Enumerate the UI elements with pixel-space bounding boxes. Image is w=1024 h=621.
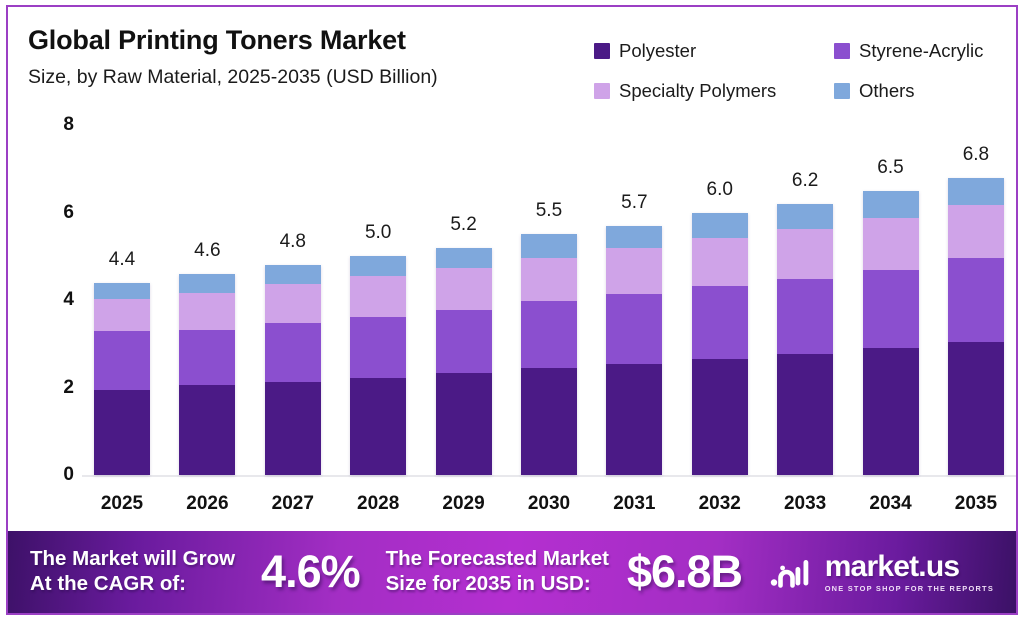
bar-column[interactable]: 5.2	[436, 125, 492, 475]
bar-segment[interactable]	[350, 317, 406, 378]
infographic-root: Global Printing Toners Market Size, by R…	[0, 0, 1024, 621]
bar-segment[interactable]	[94, 283, 150, 299]
bar-segment[interactable]	[606, 226, 662, 249]
x-tick-label: 2034	[863, 493, 919, 515]
bar-segment[interactable]	[777, 279, 833, 354]
legend-swatch-icon-specialty-polymers	[594, 83, 610, 99]
bar-segment[interactable]	[179, 330, 235, 386]
x-tick-label: 2029	[436, 493, 492, 515]
bar-segment[interactable]	[179, 274, 235, 293]
bar-total-label: 5.2	[450, 214, 476, 236]
cagr-label: The Market will Grow At the CAGR of:	[30, 547, 235, 596]
bar-total-label: 5.0	[365, 222, 391, 244]
bar-segment[interactable]	[265, 323, 321, 382]
bar-column[interactable]: 5.0	[350, 125, 406, 475]
y-tick-label: 8	[40, 114, 74, 136]
bar-segment[interactable]	[265, 265, 321, 284]
forecast-label-line1: The Forecasted Market	[386, 547, 609, 570]
x-axis-baseline	[82, 475, 1016, 477]
bar-total-label: 6.2	[792, 170, 818, 192]
forecast-label-line2: Size for 2035 in USD:	[386, 572, 609, 597]
bar-stack[interactable]	[94, 283, 150, 476]
bar-segment[interactable]	[94, 390, 150, 475]
bar-segment[interactable]	[948, 178, 1004, 206]
bar-segment[interactable]	[436, 248, 492, 268]
bar-stack[interactable]	[863, 191, 919, 475]
bar-segment[interactable]	[948, 258, 1004, 341]
bar-stack[interactable]	[350, 256, 406, 475]
brand-logo[interactable]: market.us ONE STOP SHOP FOR THE REPORTS	[769, 552, 994, 592]
x-tick-label: 2028	[350, 493, 406, 515]
bar-segment[interactable]	[265, 284, 321, 323]
title-block: Global Printing Toners Market Size, by R…	[28, 25, 438, 89]
market-us-logo-icon	[769, 555, 815, 589]
bar-stack[interactable]	[265, 265, 321, 475]
legend-item-specialty-polymers[interactable]: Specialty Polymers	[594, 80, 834, 102]
legend-label-specialty-polymers: Specialty Polymers	[619, 80, 776, 102]
bar-segment[interactable]	[350, 378, 406, 475]
bar-segment[interactable]	[521, 301, 577, 368]
bar-total-label: 4.8	[280, 231, 306, 253]
page-subtitle: Size, by Raw Material, 2025-2035 (USD Bi…	[28, 66, 438, 89]
forecast-block: The Forecasted Market Size for 2035 in U…	[386, 547, 609, 596]
bar-segment[interactable]	[948, 342, 1004, 475]
bar-column[interactable]: 5.7	[606, 125, 662, 475]
bar-column[interactable]: 6.2	[777, 125, 833, 475]
bar-segment[interactable]	[179, 293, 235, 330]
bar-segment[interactable]	[179, 385, 235, 475]
y-tick-label: 0	[40, 464, 74, 486]
bar-segment[interactable]	[436, 268, 492, 310]
chart-plot: 02468 4.44.64.85.05.25.55.76.06.26.56.8 …	[8, 117, 1016, 531]
bar-stack[interactable]	[692, 213, 748, 476]
legend-item-others[interactable]: Others	[834, 80, 1014, 102]
legend-label-polyester: Polyester	[619, 40, 696, 62]
legend-swatch-icon-polyester	[594, 43, 610, 59]
legend-item-styrene-acrylic[interactable]: Styrene-Acrylic	[834, 40, 1014, 62]
bar-segment[interactable]	[606, 364, 662, 475]
infographic-frame: Global Printing Toners Market Size, by R…	[6, 5, 1018, 615]
bar-total-label: 6.8	[963, 144, 989, 166]
bar-segment[interactable]	[521, 368, 577, 475]
bar-segment[interactable]	[521, 234, 577, 257]
bar-segment[interactable]	[863, 270, 919, 348]
y-tick-label: 6	[40, 202, 74, 224]
x-tick-label: 2031	[606, 493, 662, 515]
x-tick-label: 2035	[948, 493, 1004, 515]
bar-stack[interactable]	[521, 234, 577, 475]
bar-column[interactable]: 4.6	[179, 125, 235, 475]
y-tick-label: 4	[40, 289, 74, 311]
bar-column[interactable]: 4.8	[265, 125, 321, 475]
bar-segment[interactable]	[948, 205, 1004, 258]
forecast-value-block: $6.8B	[627, 546, 742, 598]
logo-text: market.us ONE STOP SHOP FOR THE REPORTS	[825, 552, 994, 592]
chart-legend: Polyester Styrene-Acrylic Specialty Poly…	[594, 40, 1014, 102]
chart-area: 02468 4.44.64.85.05.25.55.76.06.26.56.8 …	[8, 117, 1016, 531]
bar-segment[interactable]	[436, 373, 492, 475]
forecast-value: $6.8B	[627, 546, 742, 598]
bar-segment[interactable]	[436, 310, 492, 373]
x-tick-label: 2027	[265, 493, 321, 515]
page-title: Global Printing Toners Market	[28, 25, 438, 56]
bar-segment[interactable]	[777, 204, 833, 229]
x-tick-label: 2032	[692, 493, 748, 515]
bar-segment[interactable]	[692, 286, 748, 359]
cagr-value-block: 4.6%	[261, 546, 360, 598]
legend-label-styrene-acrylic: Styrene-Acrylic	[859, 40, 983, 62]
bar-segment[interactable]	[777, 354, 833, 475]
forecast-label: The Forecasted Market Size for 2035 in U…	[386, 547, 609, 596]
bar-column[interactable]: 6.0	[692, 125, 748, 475]
cagr-block: The Market will Grow At the CAGR of:	[30, 547, 235, 596]
bar-segment[interactable]	[606, 294, 662, 364]
x-axis-labels: 2025202620272028202920302031203220332034…	[94, 493, 1004, 515]
bar-stack[interactable]	[777, 204, 833, 475]
bar-segment[interactable]	[521, 258, 577, 302]
bar-segment[interactable]	[350, 256, 406, 276]
legend-label-others: Others	[859, 80, 915, 102]
bar-segment[interactable]	[863, 348, 919, 475]
bar-stack[interactable]	[606, 226, 662, 475]
x-tick-label: 2030	[521, 493, 577, 515]
bar-stack[interactable]	[436, 248, 492, 476]
legend-item-polyester[interactable]: Polyester	[594, 40, 834, 62]
y-tick-label: 2	[40, 377, 74, 399]
bar-column[interactable]: 5.5	[521, 125, 577, 475]
x-tick-label: 2033	[777, 493, 833, 515]
bar-column[interactable]: 6.5	[863, 125, 919, 475]
bar-group: 4.44.64.85.05.25.55.76.06.26.56.8	[94, 125, 1004, 475]
bar-segment[interactable]	[692, 238, 748, 286]
bar-total-label: 4.4	[109, 249, 135, 271]
logo-tagline: ONE STOP SHOP FOR THE REPORTS	[825, 585, 994, 592]
bar-segment[interactable]	[94, 299, 150, 331]
footer-banner: The Market will Grow At the CAGR of: 4.6…	[8, 531, 1016, 613]
bar-segment[interactable]	[692, 213, 748, 238]
bar-segment[interactable]	[863, 218, 919, 271]
bar-stack[interactable]	[948, 178, 1004, 476]
cagr-label-line1: The Market will Grow	[30, 547, 235, 570]
bar-segment[interactable]	[94, 331, 150, 390]
chart-header: Global Printing Toners Market Size, by R…	[8, 7, 1016, 117]
bar-column[interactable]: 6.8	[948, 125, 1004, 475]
bar-total-label: 5.7	[621, 192, 647, 214]
cagr-value: 4.6%	[261, 546, 360, 598]
bar-segment[interactable]	[692, 359, 748, 475]
logo-wordmark: market.us	[825, 552, 994, 582]
legend-swatch-icon-styrene-acrylic	[834, 43, 850, 59]
bar-segment[interactable]	[777, 229, 833, 278]
legend-swatch-icon-others	[834, 83, 850, 99]
bar-total-label: 6.0	[707, 179, 733, 201]
bar-segment[interactable]	[265, 382, 321, 475]
x-tick-label: 2025	[94, 493, 150, 515]
bar-column[interactable]: 4.4	[94, 125, 150, 475]
bar-total-label: 4.6	[194, 240, 220, 262]
bar-stack[interactable]	[179, 274, 235, 475]
x-tick-label: 2026	[179, 493, 235, 515]
y-axis: 02468	[40, 117, 74, 531]
cagr-label-line2: At the CAGR of:	[30, 572, 235, 597]
bar-segment[interactable]	[863, 191, 919, 218]
bar-total-label: 6.5	[877, 157, 903, 179]
bar-segment[interactable]	[606, 248, 662, 294]
bar-segment[interactable]	[350, 276, 406, 317]
bar-total-label: 5.5	[536, 200, 562, 222]
